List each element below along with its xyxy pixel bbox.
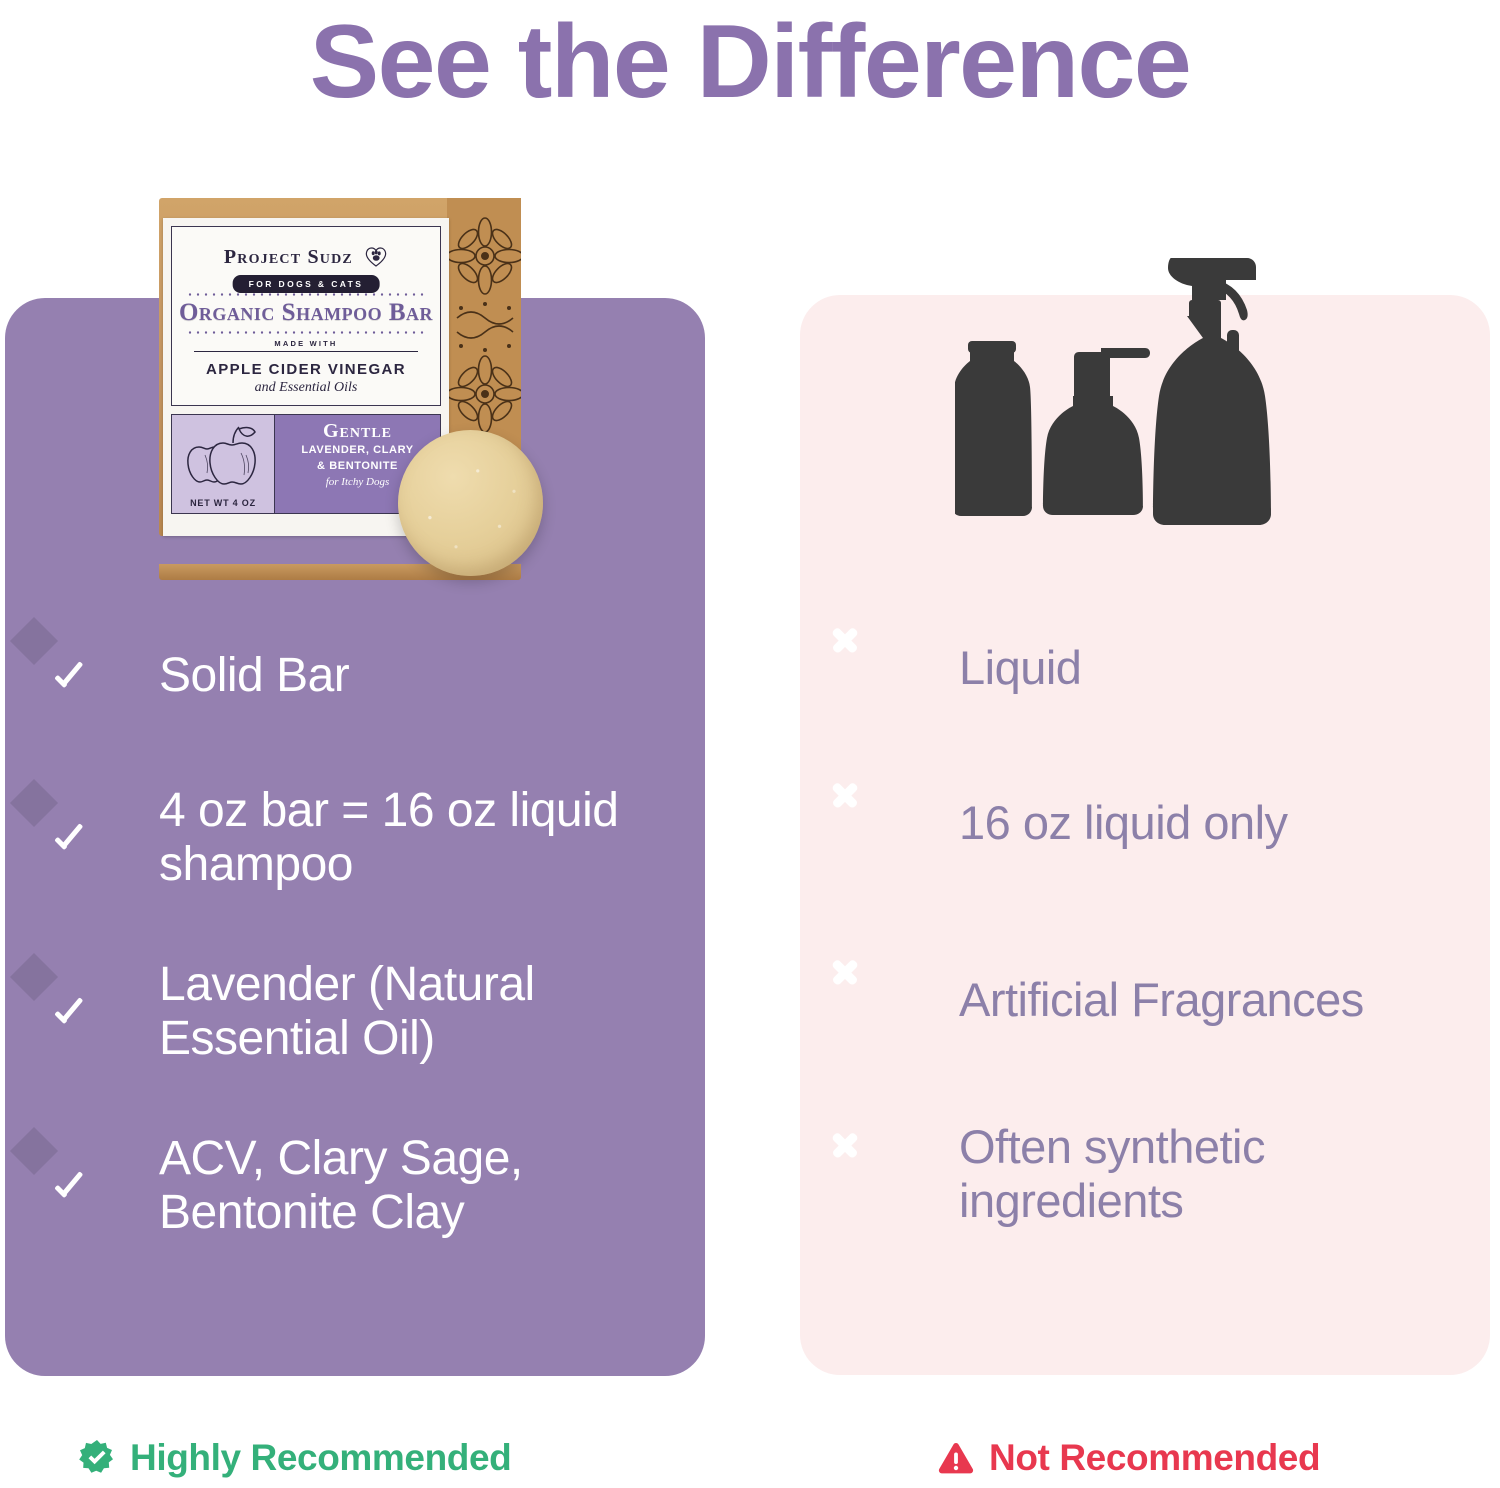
net-weight-block: NET WT 4 OZ bbox=[171, 414, 275, 514]
list-item: Liquid bbox=[845, 640, 1465, 696]
list-item-label: Lavender (Natural Essential Oil) bbox=[159, 958, 685, 1066]
label-frame: Project Sudz FOR DOGS & CATS Organic Sha… bbox=[171, 226, 441, 406]
check-circle-icon bbox=[45, 1158, 101, 1214]
x-circle-icon bbox=[845, 972, 901, 1028]
spray-bottle-icon bbox=[1153, 258, 1271, 525]
footer-label: Highly Recommended bbox=[130, 1437, 511, 1479]
pump-dispenser-bottle-icon bbox=[1043, 348, 1150, 515]
list-item-label: Liquid bbox=[959, 641, 1081, 695]
soap-bar-disc bbox=[398, 430, 543, 576]
list-item-label: 4 oz bar = 16 oz liquid shampoo bbox=[159, 784, 685, 892]
check-circle-icon bbox=[45, 648, 101, 704]
x-circle-icon bbox=[845, 795, 901, 851]
x-circle-icon bbox=[845, 1146, 901, 1202]
liquid-bottles-silhouette-group bbox=[955, 248, 1285, 548]
label-tagline: FOR DOGS & CATS bbox=[233, 275, 380, 293]
apple-illustration-icon bbox=[183, 421, 263, 492]
check-circle-icon bbox=[45, 984, 101, 1040]
made-with-label: MADE WITH bbox=[172, 339, 440, 348]
brand-row: Project Sudz bbox=[172, 241, 440, 269]
ingredient-main: APPLE CIDER VINEGAR bbox=[172, 361, 440, 378]
warning-triangle-icon bbox=[937, 1439, 975, 1477]
list-item-label: Often synthetic ingredients bbox=[959, 1120, 1465, 1227]
list-item: ACV, Clary Sage, Bentonite Clay bbox=[45, 1132, 685, 1240]
variant-name: Gentle bbox=[275, 421, 440, 441]
list-item: Lavender (Natural Essential Oil) bbox=[45, 958, 685, 1066]
list-item: 4 oz bar = 16 oz liquid shampoo bbox=[45, 784, 685, 892]
list-item-label: ACV, Clary Sage, Bentonite Clay bbox=[159, 1132, 685, 1240]
plain-bottle-icon bbox=[955, 341, 1032, 516]
list-item: 16 oz liquid only bbox=[845, 795, 1465, 851]
check-circle-icon bbox=[45, 810, 101, 866]
paw-heart-icon bbox=[364, 245, 388, 267]
product-photo-shampoo-bar: Project Sudz FOR DOGS & CATS Organic Sha… bbox=[150, 186, 540, 586]
brand-name: Project Sudz bbox=[224, 246, 353, 268]
list-item-label: 16 oz liquid only bbox=[959, 796, 1288, 850]
net-weight-text: NET WT 4 OZ bbox=[172, 498, 274, 508]
footer-label: Not Recommended bbox=[989, 1437, 1320, 1479]
product-name: Organic Shampoo Bar bbox=[172, 299, 440, 327]
ingredient-sub: and Essential Oils bbox=[172, 380, 440, 396]
list-item: Solid Bar bbox=[45, 648, 685, 704]
dotted-rule-top bbox=[186, 293, 426, 296]
footer-not-recommended: Not Recommended bbox=[937, 1437, 1320, 1479]
list-item: Often synthetic ingredients bbox=[845, 1120, 1465, 1227]
list-item-label: Solid Bar bbox=[159, 649, 349, 703]
list-item: Artificial Fragrances bbox=[845, 972, 1465, 1028]
footer-highly-recommended: Highly Recommended bbox=[78, 1437, 511, 1479]
page-title: See the Difference bbox=[0, 4, 1500, 120]
list-item-label: Artificial Fragrances bbox=[959, 973, 1364, 1027]
dotted-rule-bottom bbox=[186, 331, 426, 334]
divider-rule bbox=[194, 351, 418, 352]
x-circle-icon bbox=[845, 640, 901, 696]
badge-check-icon bbox=[78, 1439, 116, 1477]
